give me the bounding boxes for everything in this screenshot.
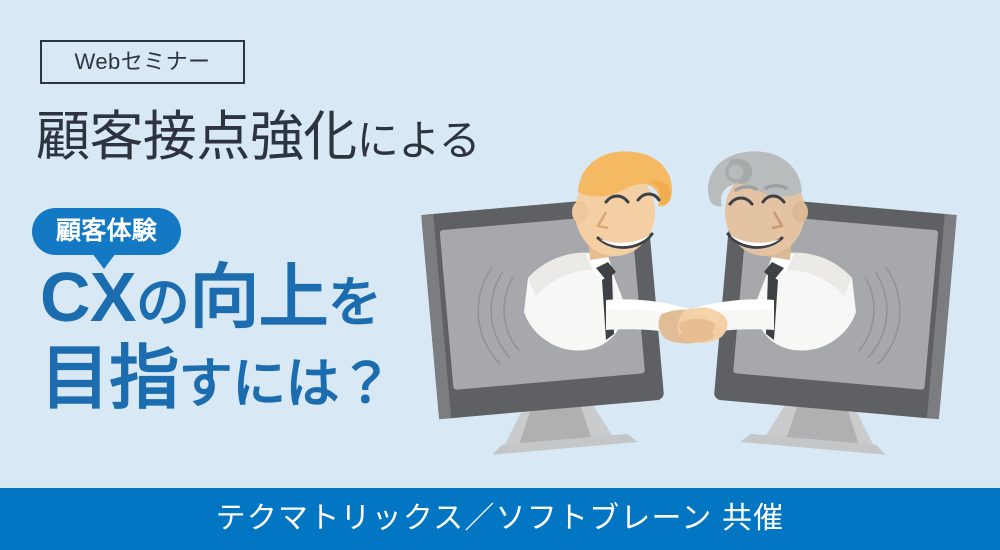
seminar-type-label: Webセミナー <box>75 51 211 73</box>
cx-headline-no: の <box>136 273 189 333</box>
footer-cohost-label: テクマトリックス／ソフトブレーン 共催 <box>216 504 785 534</box>
handshake-illustration <box>400 150 1000 490</box>
handshake <box>659 307 728 343</box>
cx-headline-mezasu: 目指 <box>40 339 179 417</box>
footer-bar: テクマトリックス／ソフトブレーン 共催 <box>0 488 1000 550</box>
cx-headline-wo: を <box>328 273 381 333</box>
cx-definition-label: 顧客体験 <box>56 219 157 244</box>
cx-headline-suniwa: すには？ <box>179 354 393 414</box>
cx-definition-pill: 顧客体験 <box>32 208 181 255</box>
cx-headline-cx: CX <box>40 258 136 336</box>
headline-line-1-strong: 顧客接点強化 <box>36 107 357 167</box>
webinar-banner: Webセミナー 顧客接点強化による 顧客体験 CXの向上を 目指すには？ <box>0 0 1000 550</box>
seminar-type-badge: Webセミナー <box>40 40 245 84</box>
cx-headline-koujou: 向上 <box>189 258 328 336</box>
